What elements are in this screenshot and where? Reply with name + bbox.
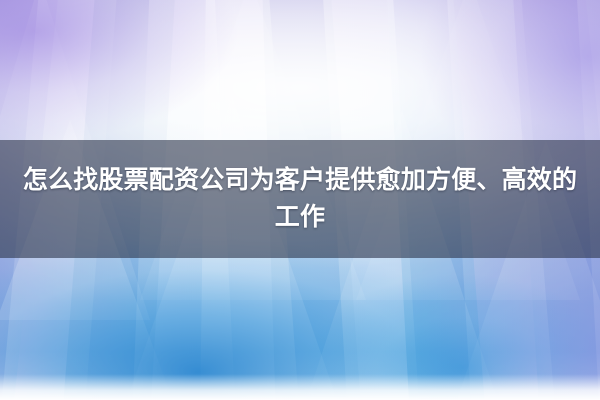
banner-image: 怎么找股票配资公司为客户提供愈加方便、高效的 工作 xyxy=(0,0,600,400)
caption-text: 怎么找股票配资公司为客户提供愈加方便、高效的 工作 xyxy=(17,162,583,236)
caption-band: 怎么找股票配资公司为客户提供愈加方便、高效的 工作 xyxy=(0,140,600,258)
